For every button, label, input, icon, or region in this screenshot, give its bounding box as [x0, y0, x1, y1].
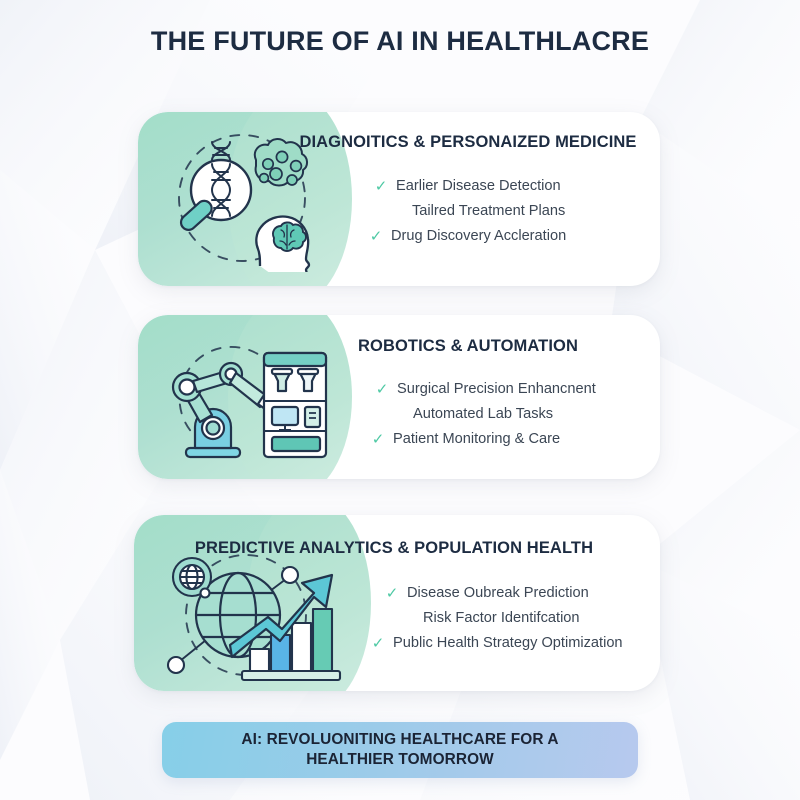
globe-bar-chart-arrow-icon — [154, 553, 346, 685]
footer-line-1: AI: REVOLUONITING HEALTHCARE FOR A — [241, 731, 558, 748]
card-title-robotics: ROBOTICS & AUTOMATION — [290, 337, 646, 356]
infographic-poster: THE FUTURE OF AI IN HEALTHLACRE — [0, 0, 800, 800]
list-item-label: Earlier Disease Detection — [396, 174, 561, 199]
list-item: ✓ Surgical Precision Enhancnent — [370, 377, 660, 402]
footer-banner-text: AI: REVOLUONITING HEALTHCARE FOR A HEALT… — [241, 730, 558, 770]
check-icon: ✓ — [373, 174, 389, 199]
card-list-predictive: ✓ Disease Oubreak Prediction Risk Factor… — [370, 581, 660, 656]
list-item: ✓ Earlier Disease Detection — [368, 174, 660, 199]
list-item-label: Surgical Precision Enhancnent — [397, 377, 596, 402]
card-robotics[interactable]: ROBOTICS & AUTOMATION ✓ Surgical Precisi… — [138, 315, 660, 479]
list-item-label: Disease Oubreak Prediction — [407, 581, 589, 606]
card-predictive[interactable]: PREDICTIVE ANALYTICS & POPULATION HEALTH… — [134, 515, 660, 691]
footer-line-2: HEALTHIER TOMORROW — [306, 751, 494, 768]
list-item-label: Automated Lab Tasks — [413, 402, 553, 427]
check-icon: ✓ — [384, 581, 400, 606]
list-item: ✓ Public Health Strategy Optimization — [370, 631, 660, 656]
list-item-label: Drug Discovery Accleration — [391, 224, 566, 249]
list-item: Automated Lab Tasks — [370, 402, 660, 427]
check-icon: ✓ — [370, 631, 386, 656]
list-item: ✓ Drug Discovery Accleration — [368, 224, 660, 249]
footer-banner[interactable]: AI: REVOLUONITING HEALTHCARE FOR A HEALT… — [162, 722, 638, 778]
card-title-predictive: PREDICTIVE ANALYTICS & POPULATION HEALTH — [174, 539, 614, 558]
list-item: ✓ Disease Oubreak Prediction — [370, 581, 660, 606]
card-list-robotics: ✓ Surgical Precision Enhancnent Automate… — [370, 377, 660, 452]
list-item: Tailred Treatment Plans — [368, 199, 660, 224]
page-title: THE FUTURE OF AI IN HEALTHLACRE — [0, 26, 800, 57]
list-item: Risk Factor Identifcation — [370, 606, 660, 631]
card-list-diagnostics: ✓ Earlier Disease Detection Tailred Trea… — [368, 174, 660, 249]
list-item: ✓ Patient Monitoring & Care — [370, 427, 660, 452]
card-title-diagnostics: DIAGNOITICS & PERSONAIZED MEDICINE — [290, 133, 646, 152]
check-icon: ✓ — [368, 224, 384, 249]
check-icon: ✓ — [374, 377, 390, 402]
list-item-label: Public Health Strategy Optimization — [393, 631, 623, 656]
list-item-label: Tailred Treatment Plans — [412, 199, 565, 224]
list-item-label: Patient Monitoring & Care — [393, 427, 560, 452]
card-diagnostics[interactable]: DIAGNOITICS & PERSONAIZED MEDICINE ✓ Ear… — [138, 112, 660, 286]
list-item-label: Risk Factor Identifcation — [423, 606, 580, 631]
check-icon: ✓ — [370, 427, 386, 452]
